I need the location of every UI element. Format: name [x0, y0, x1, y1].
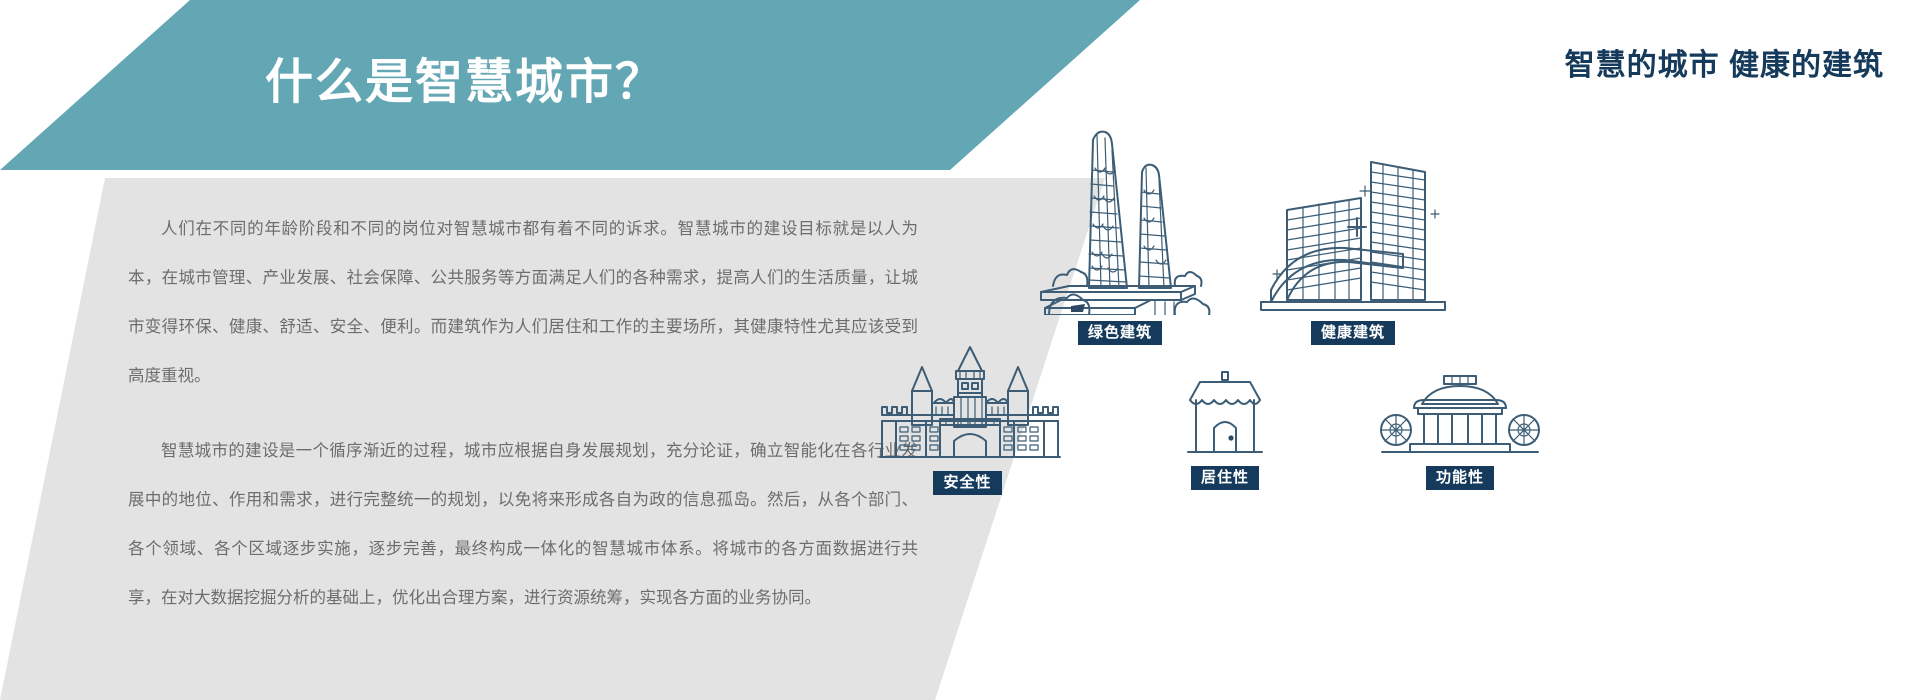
paragraph-1: 人们在不同的年龄阶段和不同的岗位对智慧城市都有着不同的诉求。智慧城市的建设目标就…	[128, 205, 918, 401]
body-copy: 人们在不同的年龄阶段和不同的岗位对智慧城市都有着不同的诉求。智慧城市的建设目标就…	[128, 205, 918, 649]
house-icon	[1170, 370, 1280, 460]
illustration-safety: 安全性	[870, 345, 1065, 495]
illustration-health-building: 健康建筑	[1248, 150, 1458, 345]
paragraph-2: 智慧城市的建设是一个循序渐近的过程，城市应根据自身发展规划，充分论证，确立智能化…	[128, 427, 918, 623]
illustration-label-functionality: 功能性	[1426, 466, 1494, 490]
illustration-label-health-building: 健康建筑	[1311, 321, 1395, 345]
illustration-label-safety: 安全性	[933, 471, 1001, 495]
illustration-livability: 居住性	[1150, 370, 1300, 490]
illustration-green-building: 绿色建筑	[1015, 110, 1225, 345]
page-title: 什么是智慧城市？	[265, 42, 665, 112]
twin-towers-icon	[1015, 110, 1225, 315]
illustration-functionality: 功能性	[1380, 370, 1540, 490]
headline-slogan: 智慧的城市 健康的建筑	[1565, 40, 1884, 84]
pavilion-icon	[1380, 370, 1540, 460]
illustration-label-green-building: 绿色建筑	[1078, 321, 1162, 345]
hospital-building-icon	[1253, 150, 1453, 315]
castle-icon	[870, 345, 1070, 465]
illustration-label-livability: 居住性	[1191, 466, 1259, 490]
